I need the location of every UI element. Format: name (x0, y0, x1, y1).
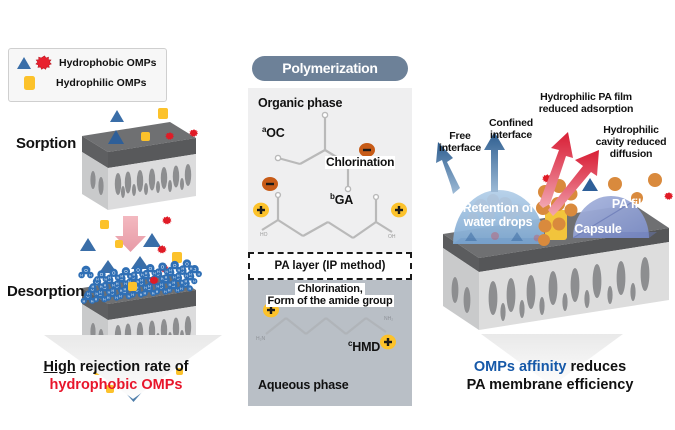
right-conclusion-rest: reduces (567, 359, 627, 375)
right-conclusion-blue: OMPs affinity (474, 359, 567, 375)
chlorination-annotation-top: Chlorination (325, 156, 395, 169)
pa-film-callout-line1: Hydrophilic PA film (540, 91, 632, 103)
retention-line1: Retention of (463, 201, 534, 215)
svg-text:O: O (161, 264, 165, 269)
polymerization-banner: Polymerization (252, 56, 408, 81)
star-red-icon (36, 55, 52, 71)
svg-text:O: O (112, 271, 116, 276)
legend-box: Hydrophobic OMPs Hydrophilic OMPs (8, 48, 167, 102)
square-yellow-icon (24, 76, 35, 90)
triangle-blue-icon (17, 57, 31, 69)
svg-text:O: O (136, 267, 140, 272)
svg-text:O: O (124, 269, 128, 274)
chlorination-amide-annotation: Chlorination, Form of the amide group (248, 283, 412, 308)
confined-interface-line2: interface (490, 129, 532, 141)
svg-text:HO: HO (260, 232, 268, 238)
svg-text:O: O (84, 268, 88, 273)
pa-layer-label: PA layer (IP method) (250, 254, 410, 278)
legend-item-hydrophilic: Hydrophilic OMPs (17, 76, 146, 90)
free-omps-top (110, 108, 168, 122)
svg-text:O: O (173, 263, 177, 268)
hmd-molecule-label: cHMD (348, 340, 380, 354)
ga-name: GA (335, 193, 353, 207)
oc-molecule-skeleton (278, 116, 366, 188)
polymerization-banner-label: Polymerization (252, 56, 408, 81)
callout-hydrophilic-cavity: Hydrophilic cavity reduced diffusion (588, 125, 674, 160)
trapped-hydrophilic-omp (128, 282, 137, 291)
free-interface-line1: Free (449, 130, 470, 142)
left-conclusion: High rejection rate of hydrophobic OMPs (0, 358, 232, 394)
cavity-callout-line1: Hydrophilic (603, 124, 659, 136)
hmd-molecule-skeleton (266, 318, 386, 334)
oc-molecule-label: aOC (262, 126, 285, 140)
left-conclusion-underlined: High (43, 359, 75, 375)
svg-text:H: H (80, 274, 83, 278)
oc-name: OC (266, 126, 284, 140)
label-capsule: Capsule (563, 222, 633, 236)
cavity-callout-line2: cavity reduced (596, 136, 667, 148)
ga-molecule-label: bGA (330, 193, 353, 207)
desorption-label: Desorption (7, 284, 84, 301)
svg-text:O: O (185, 261, 189, 266)
pa-film-callout-line2: reduced adsorption (539, 103, 633, 115)
left-conclusion-rest: rejection rate of (76, 359, 189, 375)
retention-line2: water drops (464, 215, 533, 229)
callout-confined-interface: Confined interface (475, 118, 547, 142)
svg-text:H: H (89, 274, 92, 278)
sorption-membrane-block (82, 122, 196, 210)
pa-layer-box: PA layer (IP method) (248, 252, 412, 280)
svg-text:H₂N: H₂N (256, 336, 266, 342)
label-pa-film: PA film (602, 197, 662, 211)
callout-hydrophilic-pa-film: Hydrophilic PA film reduced adsorption (515, 92, 657, 116)
free-interface-line2: interface (439, 142, 481, 154)
water-molecule: OHH (119, 267, 134, 279)
ga-molecule-skeleton (262, 196, 392, 238)
right-conclusion: OMPs affinity reduces PA membrane effici… (425, 358, 675, 394)
legend-item-hydrophobic: Hydrophobic OMPs (17, 55, 156, 71)
legend-label-hydrophobic: Hydrophobic OMPs (59, 57, 156, 69)
svg-text:NH₂: NH₂ (384, 316, 393, 322)
amide-annotation-line1: Chlorination, (295, 283, 364, 295)
hmd-name: HMD (352, 340, 380, 354)
legend-label-hydrophilic: Hydrophilic OMPs (56, 77, 146, 89)
amide-annotation-line2: Form of the amide group (266, 295, 395, 307)
svg-text:O: O (149, 266, 153, 271)
left-conclusion-line2: hydrophobic OMPs (50, 377, 183, 393)
label-retention-of-water-drops: Retention of water drops (448, 201, 548, 229)
graphical-abstract-figure: Hydrophobic OMPs Hydrophilic OMPs (0, 0, 675, 430)
svg-text:OH: OH (388, 234, 396, 240)
svg-text:O: O (100, 272, 104, 277)
sorption-label: Sorption (16, 136, 76, 153)
right-conclusion-line2: PA membrane efficiency (467, 377, 634, 393)
confined-interface-line1: Confined (489, 117, 533, 129)
cavity-callout-line3: diffusion (610, 148, 653, 160)
water-molecule: OHH (155, 262, 170, 274)
